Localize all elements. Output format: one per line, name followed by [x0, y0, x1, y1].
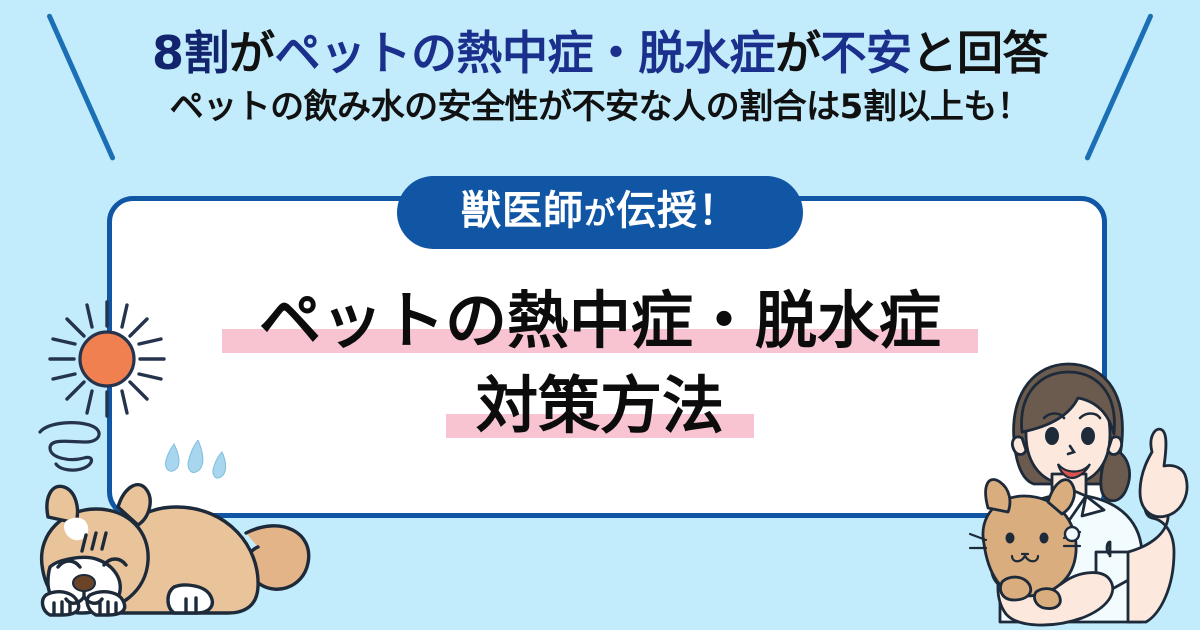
sun-icon — [44, 296, 170, 422]
veterinarian-badge: 獣医師が伝授！ — [397, 176, 803, 249]
main-title-text-2: 対策方法 — [476, 369, 724, 442]
tired-shiba-dog-illustration — [24, 455, 314, 630]
headline-line-2: ペットの飲み水の安全性が不安な人の割合は5割以上も！ — [0, 86, 1200, 129]
badge-text-particle: が — [584, 196, 616, 232]
headline-line-1: 8割がペットの熱中症・脱水症が不安と回答 — [0, 26, 1200, 80]
headline-seg-ga1: が — [229, 26, 275, 80]
headline-highlight-8wari: 8割 — [152, 26, 229, 80]
headline-seg-pet-heatstroke: ペットの熱中症・脱水症 — [275, 26, 776, 80]
badge-text-main2: 伝授！ — [616, 188, 739, 234]
main-title-text-1: ペットの熱中症・脱水症 — [259, 284, 941, 357]
badge-text-main1: 獣医師 — [461, 188, 584, 234]
headline-seg-anxiety: 不安 — [821, 26, 912, 80]
poster-canvas: 8割がペットの熱中症・脱水症が不安と回答 ペットの飲み水の安全性が不安な人の割合… — [0, 0, 1200, 630]
headline-seg-8wari: 8割 — [152, 26, 229, 80]
headline-seg-ga2: が — [775, 26, 821, 80]
headline-block: 8割がペットの熱中症・脱水症が不安と回答 ペットの飲み水の安全性が不安な人の割合… — [0, 26, 1200, 129]
veterinarian-holding-cat-illustration — [960, 356, 1200, 630]
main-title-line-1: ペットの熱中症・脱水症 — [0, 288, 1200, 355]
headline-seg-answered: と回答 — [912, 26, 1049, 80]
